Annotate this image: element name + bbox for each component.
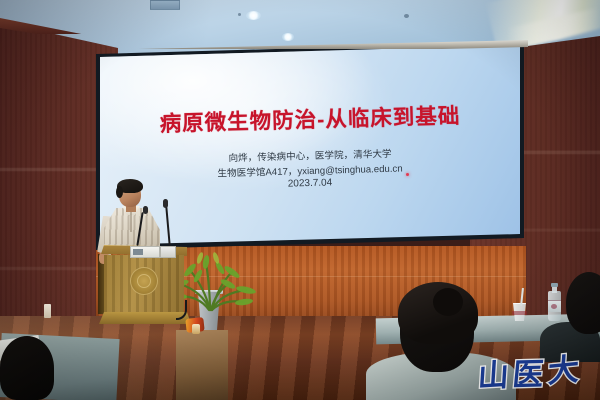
podium-emblem-icon [130, 267, 158, 295]
bottle-neck [552, 286, 557, 293]
podium [104, 255, 184, 317]
laser-pointer-dot [406, 173, 409, 176]
watermark-char-1: 山 [477, 349, 512, 396]
audience-member-head [0, 336, 54, 400]
bottle-label [548, 300, 561, 312]
ceiling-downlight-icon [246, 11, 261, 20]
ceiling-downlight-icon [282, 33, 294, 41]
cup-band [512, 311, 527, 315]
audience-member-head [566, 272, 600, 334]
ceiling-fixture [150, 0, 180, 10]
speaker-hair-side [116, 186, 123, 198]
small-light-object [44, 304, 51, 318]
ceiling-speck [404, 14, 409, 18]
microphone-icon [143, 206, 148, 214]
presentation-slide: 病原微生物防治-从临床到基础 向烨，传染病中心，医学院，清华大学 生物医学馆A4… [100, 45, 520, 245]
shirt-placket [130, 212, 132, 232]
audience-member-hair-bun [433, 288, 463, 316]
bottle-cap [551, 283, 558, 287]
microphone-icon [163, 199, 168, 208]
lecture-hall-photo: 病原微生物防治-从临床到基础 向烨，传染病中心，医学院，清华大学 生物医学馆A4… [0, 0, 600, 400]
decorative-object-detail [192, 324, 200, 334]
podium-control-panel [160, 246, 176, 258]
watermark-logo: 山 医 大 [465, 344, 593, 396]
side-table [176, 330, 228, 400]
slide-title: 病原微生物防治-从临床到基础 [100, 97, 521, 139]
podium-nameplate [130, 246, 160, 258]
watermark-char-2: 医 [511, 348, 547, 394]
ceiling-speck [238, 13, 241, 16]
watermark-char-3: 大 [547, 343, 580, 391]
